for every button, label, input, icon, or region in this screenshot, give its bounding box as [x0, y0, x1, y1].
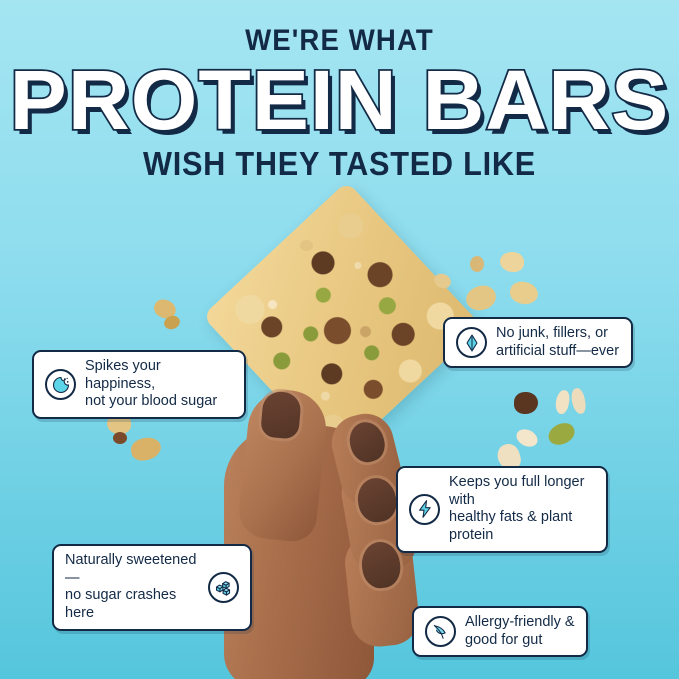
crumb-almond-sliver	[570, 387, 587, 415]
sprout-leaf-icon	[425, 616, 456, 647]
product-marketing-image: WE'RE WHAT PROTEIN BARS WISH THEY TASTED…	[0, 0, 679, 679]
crumb-almond-sliver	[554, 389, 572, 415]
callout-text: Allergy-friendly & good for gut	[465, 614, 575, 649]
leaf-diamond-icon	[456, 327, 487, 358]
lightning-bolt-icon	[409, 494, 440, 525]
crumb-oat	[470, 256, 484, 272]
crumb-chocolate-chip	[514, 392, 538, 414]
crumb-oat	[300, 240, 313, 251]
thumbnail	[260, 390, 302, 439]
callout-keeps-full: Keeps you full longer with healthy fats …	[396, 466, 608, 553]
callout-text: Keeps you full longer with healthy fats …	[449, 474, 595, 545]
callout-text: Naturally sweetened— no sugar crashes he…	[65, 552, 199, 623]
crumb-oat	[500, 252, 524, 272]
crumb-oat	[113, 432, 127, 444]
crumb-pumpkin-seed	[545, 419, 578, 448]
headline-subline: WISH THEY TASTED LIKE	[24, 147, 655, 180]
callout-text: Spikes your happiness, not your blood su…	[85, 358, 233, 411]
crumb-oat	[464, 283, 499, 314]
crumb-oat	[129, 435, 163, 463]
callout-no-junk: No junk, fillers, or artificial stuff—ev…	[443, 317, 633, 368]
headline-block: WE'RE WHAT PROTEIN BARS WISH THEY TASTED…	[0, 26, 679, 180]
headline-kicker: WE'RE WHAT	[27, 26, 652, 56]
headline-main: PROTEIN BARS	[0, 62, 679, 139]
callout-text: No junk, fillers, or artificial stuff—ev…	[496, 325, 619, 360]
crumb-almond-sliver	[514, 426, 541, 450]
sugar-cubes-icon	[208, 572, 239, 603]
crumb-oat	[508, 279, 540, 306]
cookie-bite-icon	[45, 369, 76, 400]
callout-naturally-sweetened: Naturally sweetened— no sugar crashes he…	[52, 544, 252, 631]
callout-blood-sugar: Spikes your happiness, not your blood su…	[32, 350, 246, 419]
callout-allergy-friendly: Allergy-friendly & good for gut	[412, 606, 588, 657]
